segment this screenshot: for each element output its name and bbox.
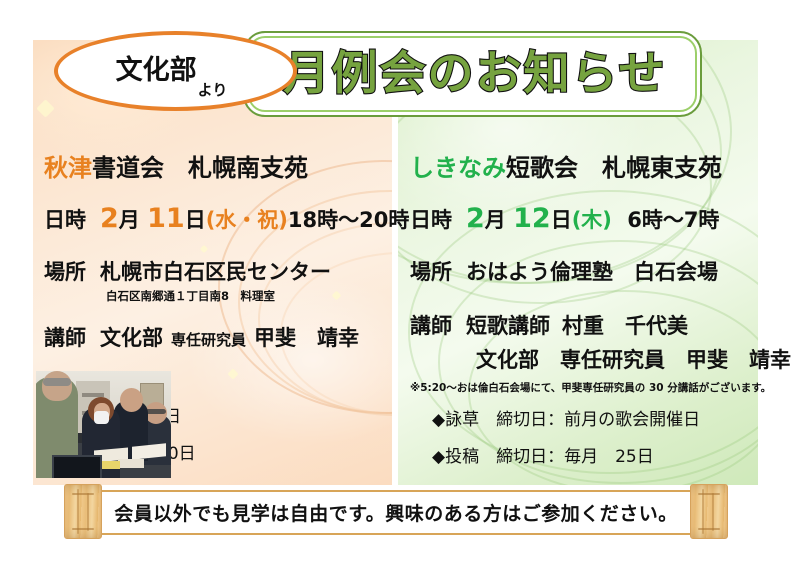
teacher-name: 村重 千代美 bbox=[562, 310, 688, 340]
photo-person-head bbox=[42, 371, 72, 401]
date-value: 2月 11日(水・祝)18時〜20時 bbox=[100, 203, 409, 234]
teacher-label: 講師 bbox=[410, 310, 452, 340]
group-photo bbox=[36, 371, 171, 478]
teacher-name: 甲斐 靖幸 bbox=[254, 322, 359, 352]
scroll-end-right bbox=[690, 484, 728, 539]
place-row: 場所 おはよう倫理塾 白石会場 bbox=[410, 256, 755, 286]
date-value: 2月 12日(木) 6時〜7時 bbox=[466, 203, 719, 234]
date-month: 2 bbox=[100, 203, 119, 234]
date-day-unit: 日 bbox=[185, 208, 206, 232]
department-badge-main: 文化部 bbox=[116, 48, 197, 87]
photo-person-mask bbox=[94, 411, 109, 424]
photo-person-hair bbox=[43, 378, 71, 386]
wood-grain bbox=[87, 493, 89, 531]
photo-monitor bbox=[52, 455, 102, 478]
place-value: おはよう倫理塾 白石会場 bbox=[466, 256, 718, 286]
flyer-page: 月例会のお知らせ 文化部 より 秋津書道会 札幌南支苑 日時 2月 11日(水・… bbox=[0, 0, 792, 561]
club-name-rest: 短歌会 札幌東支苑 bbox=[506, 154, 722, 182]
date-time: 18時〜20時 bbox=[288, 208, 409, 232]
date-day-unit: 日 bbox=[551, 208, 572, 232]
footer-banner-text: 会員以外でも見学は自由です。興味のある方はご参加ください。 bbox=[114, 499, 678, 526]
club-heading: 秋津書道会 札幌南支苑 bbox=[44, 148, 389, 183]
place-value: 札幌市白石区民センター bbox=[100, 256, 331, 286]
sparkle-decoration bbox=[36, 99, 54, 117]
date-month: 2 bbox=[466, 203, 485, 234]
date-weekday: (水・祝) bbox=[206, 208, 288, 232]
lecture-note: ※5:20〜おは倫白石会場にて、甲斐専任研究員の 30 分講話がございます。 bbox=[410, 380, 755, 395]
department-badge-suffix: より bbox=[198, 79, 228, 103]
deadline-line: ◆詠草 締切日：前月の歌会開催日 bbox=[432, 405, 755, 430]
teacher-row: 講師 文化部 専任研究員 甲斐 靖幸 bbox=[44, 322, 389, 352]
teacher-secondary: 文化部 専任研究員 甲斐 靖幸 bbox=[476, 344, 755, 374]
date-day: 11 bbox=[147, 203, 185, 234]
photo-person-head bbox=[120, 388, 143, 412]
date-row: 日時 2月 11日(水・祝)18時〜20時 bbox=[44, 203, 389, 234]
page-title: 月例会のお知らせ bbox=[270, 40, 680, 106]
date-month-unit: 月 bbox=[119, 208, 140, 232]
department-badge: 文化部 より bbox=[54, 31, 289, 103]
date-label: 日時 bbox=[44, 204, 86, 234]
deadline-line: ◆投稿 締切日：毎月 25日 bbox=[432, 442, 755, 467]
wood-grain bbox=[712, 493, 714, 531]
date-day: 12 bbox=[513, 203, 551, 234]
date-month-unit: 月 bbox=[485, 208, 506, 232]
place-address: 白石区南郷通１丁目南8 料理室 bbox=[106, 288, 389, 304]
photo-paper bbox=[118, 459, 144, 468]
date-label: 日時 bbox=[410, 204, 452, 234]
club-name-accent: しきなみ bbox=[410, 154, 506, 182]
date-time: 6時〜7時 bbox=[627, 208, 719, 232]
place-row: 場所 札幌市白石区民センター bbox=[44, 256, 389, 286]
place-label: 場所 bbox=[410, 256, 452, 286]
club-name-rest: 書道会 札幌南支苑 bbox=[92, 154, 308, 182]
wood-grain bbox=[77, 489, 79, 534]
club-heading: しきなみ短歌会 札幌東支苑 bbox=[410, 148, 755, 183]
photo-person-glasses bbox=[146, 409, 166, 414]
scroll-end-left bbox=[64, 484, 102, 539]
teacher-org: 短歌講師 bbox=[466, 310, 550, 340]
club-name-accent: 秋津 bbox=[44, 154, 92, 182]
teacher-row: 講師 短歌講師 村重 千代美 bbox=[410, 310, 755, 340]
teacher-org: 文化部 bbox=[100, 322, 163, 352]
date-weekday: (木) bbox=[572, 208, 612, 232]
footer-banner: 会員以外でも見学は自由です。興味のある方はご参加ください。 bbox=[64, 484, 728, 537]
teacher-label: 講師 bbox=[44, 322, 86, 352]
place-label: 場所 bbox=[44, 256, 86, 286]
footer-banner-body: 会員以外でも見学は自由です。興味のある方はご参加ください。 bbox=[94, 490, 698, 535]
date-row: 日時 2月 12日(木) 6時〜7時 bbox=[410, 203, 755, 234]
teacher-role: 専任研究員 bbox=[171, 329, 246, 350]
wood-grain bbox=[702, 489, 704, 534]
event-block-right: しきなみ短歌会 札幌東支苑 日時 2月 12日(木) 6時〜7時 場所 おはよう… bbox=[410, 148, 755, 479]
